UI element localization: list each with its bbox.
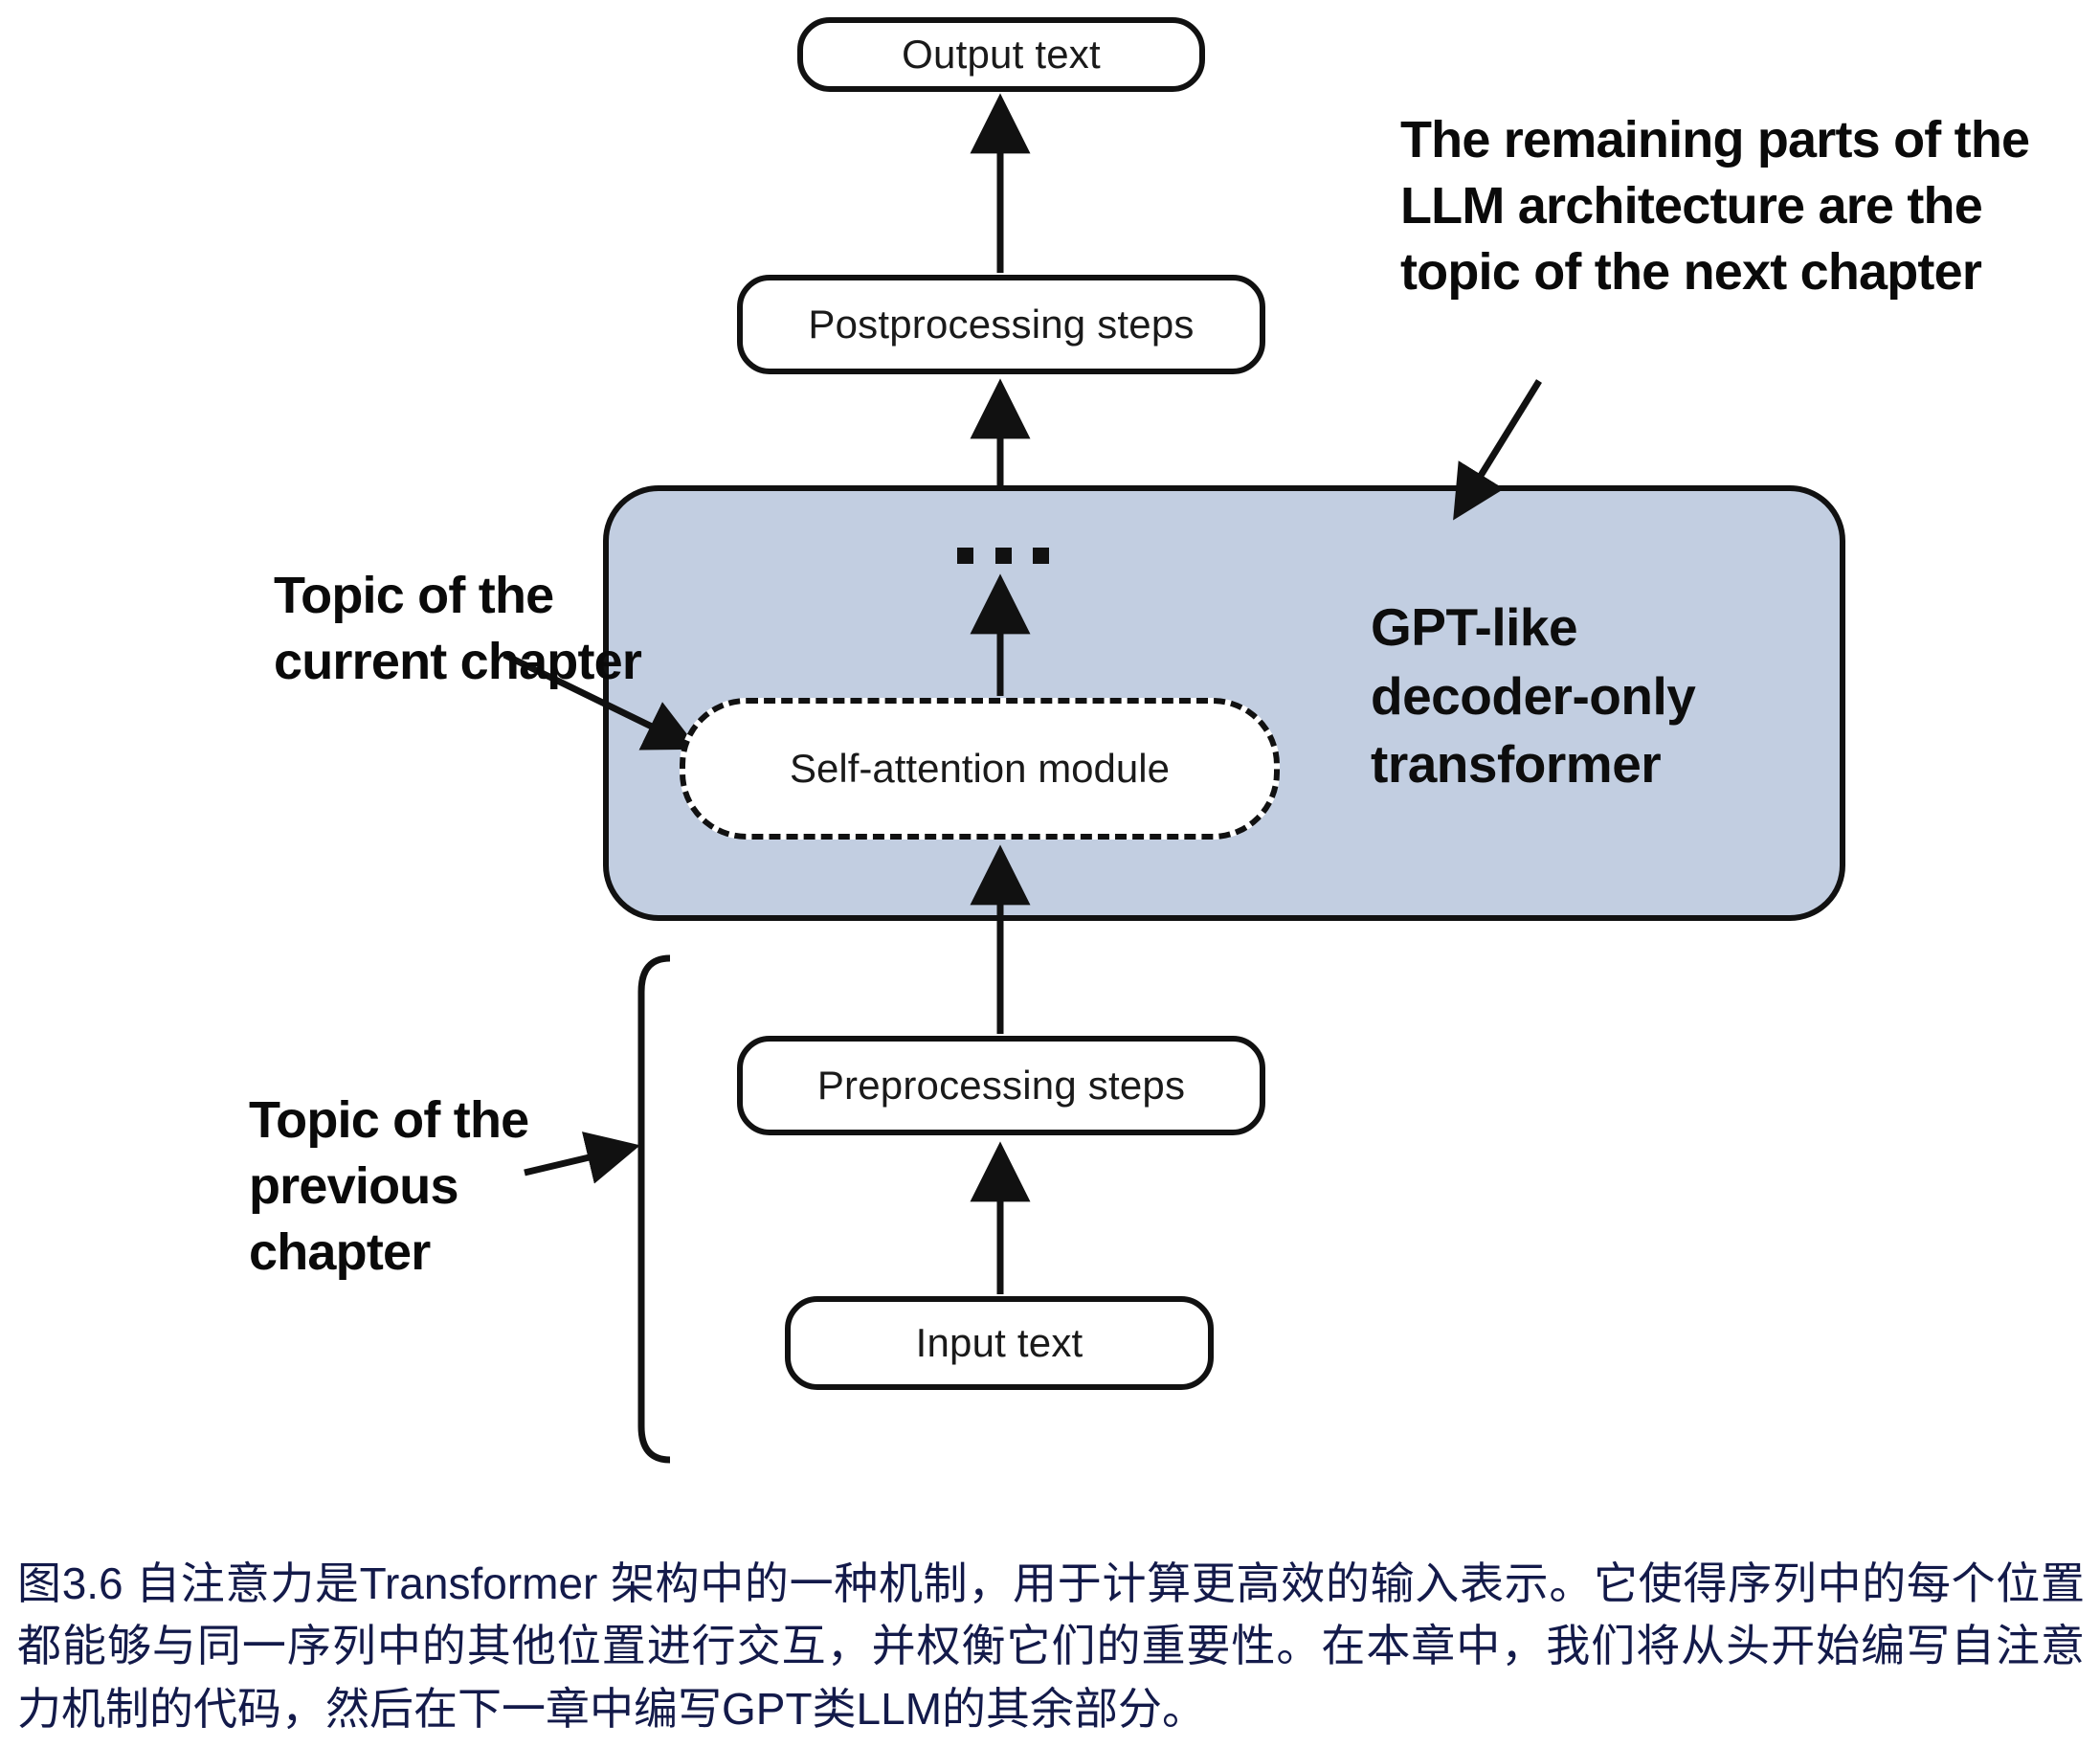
transformer-block-label-line3: transformer bbox=[1371, 730, 1821, 799]
box-output-text-label: Output text bbox=[902, 32, 1101, 78]
annotation-next-chapter: The remaining parts of the LLM architect… bbox=[1400, 107, 2100, 305]
transformer-block-label-line2: decoder-only bbox=[1371, 662, 1821, 731]
box-self-attention-module[interactable]: Self-attention module bbox=[680, 698, 1280, 840]
grouping-bracket bbox=[641, 958, 670, 1460]
box-postprocessing-steps-label: Postprocessing steps bbox=[808, 302, 1194, 347]
box-output-text[interactable]: Output text bbox=[797, 17, 1205, 92]
dot-2 bbox=[995, 548, 1012, 564]
figure-caption: 图3.6 自注意力是Transformer 架构中的一种机制，用于计算更高效的输… bbox=[17, 1553, 2085, 1740]
box-input-text-label: Input text bbox=[916, 1320, 1084, 1366]
annotation-previous-chapter: Topic of the previous chapter bbox=[249, 1087, 632, 1286]
annotation-current-chapter: Topic of the current chapter bbox=[274, 563, 657, 695]
box-input-text[interactable]: Input text bbox=[785, 1296, 1214, 1390]
transformer-block-label-line1: GPT-like bbox=[1371, 594, 1821, 662]
figure-diagram: Output text Postprocessing steps Self-at… bbox=[0, 0, 2100, 1532]
ellipsis-dots-icon bbox=[957, 546, 1049, 565]
box-self-attention-module-label: Self-attention module bbox=[790, 746, 1170, 792]
box-preprocessing-steps-label: Preprocessing steps bbox=[817, 1063, 1185, 1109]
transformer-block-label: GPT-like decoder-only transformer bbox=[1371, 594, 1821, 799]
dot-3 bbox=[1033, 548, 1049, 564]
dot-1 bbox=[957, 548, 973, 564]
box-preprocessing-steps[interactable]: Preprocessing steps bbox=[737, 1036, 1265, 1135]
box-postprocessing-steps[interactable]: Postprocessing steps bbox=[737, 275, 1265, 374]
